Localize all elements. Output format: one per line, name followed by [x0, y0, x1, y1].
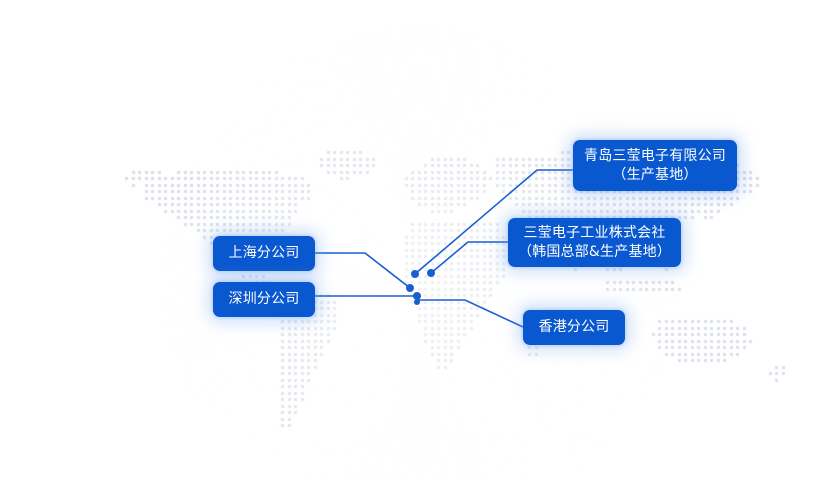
label-box-hongkong[interactable]: 香港分公司 [523, 310, 625, 345]
label-shenzhen-line1: 深圳分公司 [229, 290, 300, 308]
map-marker-shenzhen[interactable] [413, 292, 421, 300]
label-qingdao-line1: 青岛三莹电子有限公司 [584, 147, 726, 165]
connector-korea [431, 242, 508, 273]
label-box-shenzhen[interactable]: 深圳分公司 [213, 282, 315, 317]
label-qingdao-line2: （生产基地） [612, 166, 697, 184]
label-hongkong-line1: 香港分公司 [539, 318, 610, 336]
map-marker-korea[interactable] [427, 269, 435, 277]
connector-hongkong [417, 300, 523, 327]
connector-lines-layer [0, 0, 824, 480]
connector-shanghai [315, 253, 410, 288]
label-box-korea-hq[interactable]: 三莹电子工业株式会社 （韩国总部&生产基地） [508, 218, 681, 267]
map-marker-qingdao[interactable] [411, 270, 419, 278]
map-marker-hongkong[interactable] [414, 299, 420, 305]
map-marker-shanghai[interactable] [406, 284, 414, 292]
label-box-shanghai[interactable]: 上海分公司 [213, 236, 315, 271]
label-shanghai-line1: 上海分公司 [229, 244, 300, 262]
label-korea-line2: （韩国总部&生产基地） [518, 243, 671, 261]
label-box-qingdao[interactable]: 青岛三莹电子有限公司 （生产基地） [573, 140, 737, 191]
label-korea-line1: 三莹电子工业株式会社 [524, 224, 666, 242]
map-infographic-stage: 青岛三莹电子有限公司 （生产基地） 三莹电子工业株式会社 （韩国总部&生产基地）… [0, 0, 824, 480]
